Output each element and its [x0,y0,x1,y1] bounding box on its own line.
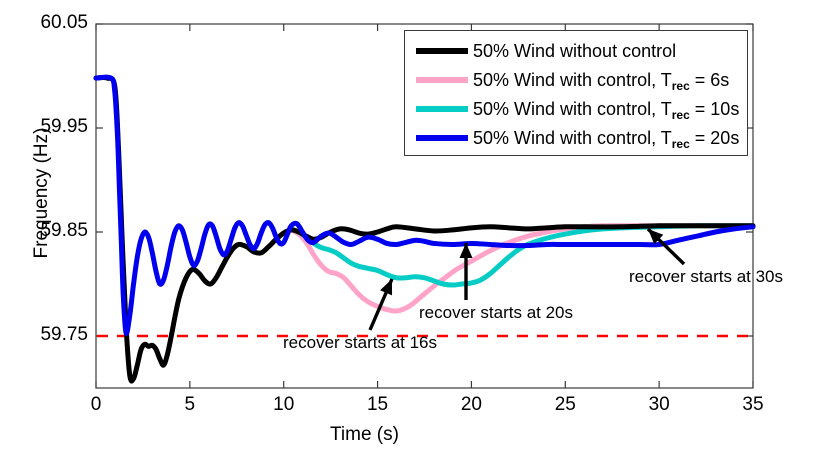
annotation-recover-16s: recover starts at 16s [283,333,437,353]
x-tick-label: 10 [254,394,314,416]
x-tick-label: 20 [441,394,501,416]
legend-color-swatch [416,77,468,83]
legend-item[interactable]: 50% Wind with control, Trec = 20s [405,123,747,152]
legend-item[interactable]: 50% Wind with control, Trec = 10s [405,94,747,123]
legend-item[interactable]: 50% Wind with control, Trec = 6s [405,65,747,94]
annotation-recover-30s: recover starts at 30s [629,267,783,287]
x-tick-label: 15 [348,394,408,416]
legend-color-swatch [416,106,468,112]
legend-label-subscript: rec [672,137,690,151]
x-tick-label: 0 [66,394,126,416]
legend-item[interactable]: 50% Wind without control [405,36,747,65]
y-tick-label: 60.05 [8,12,88,34]
y-tick-label: 59.85 [8,220,88,242]
y-tick-label: 59.75 [8,324,88,346]
x-tick-label: 35 [723,394,783,416]
chart-figure: Frequency (Hz) Time (s) 60.0559.9559.855… [0,0,816,461]
x-tick-label: 30 [629,394,689,416]
legend-label: 50% Wind without control [473,42,676,60]
annotation-recover-20s: recover starts at 20s [419,303,573,323]
legend-label: 50% Wind with control, Trec = 20s [473,129,739,147]
x-tick-label: 5 [160,394,220,416]
legend-label-subscript: rec [672,108,690,122]
legend-color-swatch [416,135,468,141]
legend-label: 50% Wind with control, Trec = 10s [473,100,739,118]
legend-color-swatch [416,48,468,54]
x-tick-label: 25 [535,394,595,416]
legend-label: 50% Wind with control, Trec = 6s [473,71,729,89]
legend-label-subscript: rec [672,79,690,93]
x-axis-label: Time (s) [330,424,399,446]
legend-box: 50% Wind without control50% Wind with co… [404,30,748,156]
y-tick-label: 59.95 [8,116,88,138]
